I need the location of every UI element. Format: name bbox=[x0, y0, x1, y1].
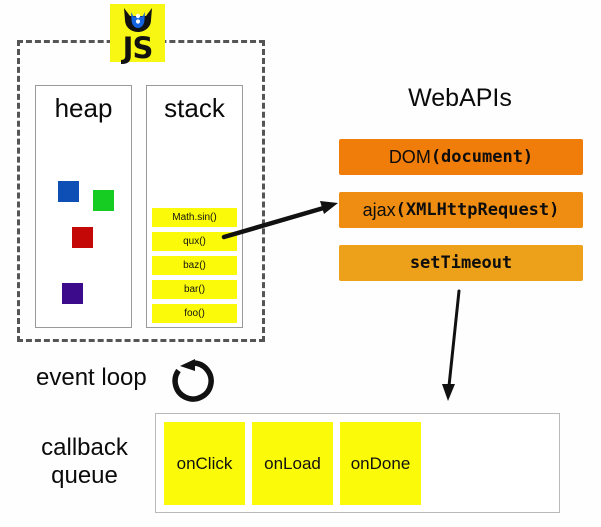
heap-title: heap bbox=[36, 93, 131, 124]
circular-arrow-icon bbox=[168, 357, 218, 405]
webapi-bar-dom: DOM (document) bbox=[339, 139, 583, 175]
heap-object-green bbox=[93, 190, 114, 211]
callback-queue-label-line2: queue bbox=[22, 462, 147, 490]
callback-queue-label: callback queue bbox=[22, 434, 147, 490]
heap-object-red bbox=[72, 227, 93, 248]
webapis-to-queue-arrow bbox=[442, 291, 459, 401]
js-logo-text: JS bbox=[110, 33, 165, 63]
stack-frame: bar() bbox=[152, 280, 237, 299]
webapi-bar-settimeout: setTimeout bbox=[339, 245, 583, 281]
webapi-lead-text: DOM bbox=[389, 147, 431, 168]
stack-title: stack bbox=[147, 93, 242, 124]
webapi-bar-ajax: ajax (XMLHttpRequest) bbox=[339, 192, 583, 228]
callback-queue-label-line1: callback bbox=[22, 434, 147, 462]
callback-queue-box: onClick onLoad onDone bbox=[155, 413, 560, 513]
diagram-canvas: JS heap stack Math.sin() qux() baz() bar… bbox=[0, 0, 601, 527]
stack-frame: Math.sin() bbox=[152, 208, 237, 227]
heap-object-purple bbox=[62, 283, 83, 304]
heap-object-blue bbox=[58, 181, 79, 202]
callback-queue-items: onClick onLoad onDone bbox=[164, 422, 421, 505]
webapi-mono-text: (XMLHttpRequest) bbox=[396, 200, 560, 220]
callback-queue-item: onClick bbox=[164, 422, 245, 505]
stack-frame: qux() bbox=[152, 232, 237, 251]
event-loop-label: event loop bbox=[36, 364, 147, 392]
webapis-title: WebAPIs bbox=[335, 84, 585, 113]
js-logo: JS bbox=[110, 4, 165, 62]
callback-queue-item: onDone bbox=[340, 422, 421, 505]
stack-frame-list: Math.sin() qux() baz() bar() foo() bbox=[152, 203, 237, 323]
stack-frame: foo() bbox=[152, 304, 237, 323]
callback-queue-item: onLoad bbox=[252, 422, 333, 505]
webapi-lead-text: ajax bbox=[363, 200, 396, 221]
stack-frame: baz() bbox=[152, 256, 237, 275]
stack-panel: stack Math.sin() qux() baz() bar() foo() bbox=[146, 85, 243, 328]
webapi-mono-text: (document) bbox=[431, 147, 533, 167]
webapi-mono-text: setTimeout bbox=[410, 253, 512, 273]
js-mascot-icon bbox=[121, 7, 155, 33]
heap-panel: heap bbox=[35, 85, 132, 328]
